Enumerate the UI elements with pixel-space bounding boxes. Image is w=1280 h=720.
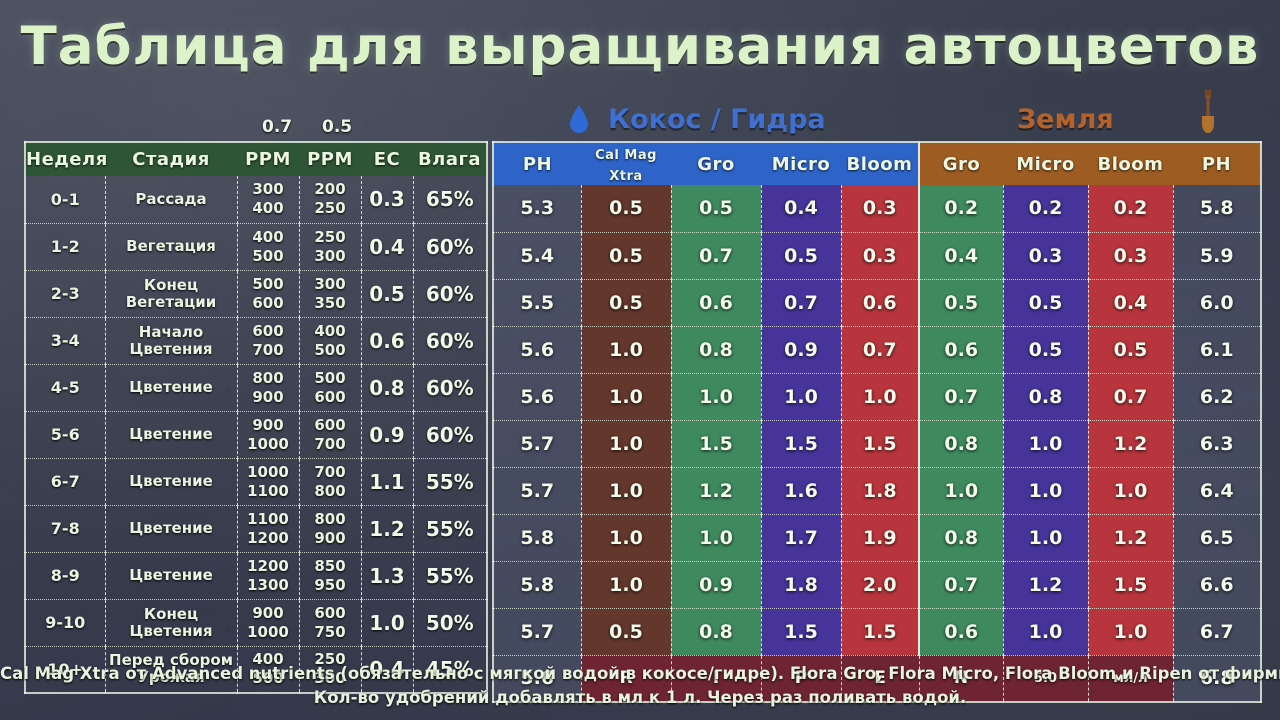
cell-ec: 1.3 (361, 552, 413, 599)
cell-week: 2-3 (25, 270, 105, 317)
cell-bloom-hydro: 1.9 (841, 514, 919, 561)
cell-gro-hydro: 0.8 (671, 326, 761, 373)
cell-ph-hydro: 5.6 (493, 326, 581, 373)
cell-ph-soil: 6.4 (1173, 467, 1261, 514)
table-row: 5.81.00.91.82.00.71.21.56.6 (493, 561, 1261, 608)
col-header-gro-soil: Gro (919, 142, 1003, 185)
table-row: 4-5Цветение8009005006000.860% (25, 364, 487, 411)
cell-stage: Конец Цветения (105, 599, 237, 646)
table-row: 0-1Рассада3004002002500.365% (25, 176, 487, 223)
cell-micro-hydro: 1.5 (761, 420, 841, 467)
cell-ppm-05: 500600 (299, 364, 361, 411)
cell-ec: 0.3 (361, 176, 413, 223)
cell-humidity: 60% (413, 411, 487, 458)
cell-ppm-05: 700800 (299, 458, 361, 505)
cell-ppm-05: 200250 (299, 176, 361, 223)
cell-ec: 0.8 (361, 364, 413, 411)
cell-gro-soil: 0.8 (919, 420, 1003, 467)
table-row: 5.61.01.01.01.00.70.80.76.2 (493, 373, 1261, 420)
cell-ph-soil: 5.9 (1173, 232, 1261, 279)
col-header-micro-hydro: Micro (761, 142, 841, 185)
col-header-ph-hydro: PH (493, 142, 581, 185)
cell-micro-soil: 0.8 (1003, 373, 1088, 420)
cell-gro-hydro: 0.9 (671, 561, 761, 608)
cell-micro-hydro: 0.4 (761, 185, 841, 232)
cell-week: 5-6 (25, 411, 105, 458)
cell-ppm-05: 300350 (299, 270, 361, 317)
cell-ppm-05: 600750 (299, 599, 361, 646)
group-title-hydro: Кокос / Гидра (608, 104, 826, 135)
table-row: 5-6Цветение90010006007000.960% (25, 411, 487, 458)
cell-bloom-soil: 0.7 (1088, 373, 1173, 420)
cell-micro-hydro: 0.9 (761, 326, 841, 373)
cell-gro-soil: 1.0 (919, 467, 1003, 514)
cell-ppm-07: 300400 (237, 176, 299, 223)
cell-ph-soil: 6.3 (1173, 420, 1261, 467)
cell-ph-hydro: 5.5 (493, 279, 581, 326)
cell-week: 6-7 (25, 458, 105, 505)
cell-gro-soil: 0.6 (919, 326, 1003, 373)
table-row: 2-3Конец Вегетации5006003003500.560% (25, 270, 487, 317)
cell-bloom-hydro: 0.3 (841, 185, 919, 232)
cell-micro-soil: 1.0 (1003, 420, 1088, 467)
table-row: 5.61.00.80.90.70.60.50.56.1 (493, 326, 1261, 373)
cell-humidity: 50% (413, 599, 487, 646)
cell-stage: Конец Вегетации (105, 270, 237, 317)
cell-micro-hydro: 0.7 (761, 279, 841, 326)
cell-bloom-hydro: 0.7 (841, 326, 919, 373)
table-row: 9-10Конец Цветения90010006007501.050% (25, 599, 487, 646)
table-row: 8-9Цветение120013008509501.355% (25, 552, 487, 599)
cell-bloom-hydro: 0.6 (841, 279, 919, 326)
cell-bloom-hydro: 0.3 (841, 232, 919, 279)
cell-gro-hydro: 1.0 (671, 373, 761, 420)
cell-gro-soil: 0.6 (919, 608, 1003, 655)
cell-humidity: 55% (413, 458, 487, 505)
cell-gro-hydro: 0.6 (671, 279, 761, 326)
cell-ppm-05: 850950 (299, 552, 361, 599)
col-header-gro-hydro: Gro (671, 142, 761, 185)
cell-ph-soil: 6.6 (1173, 561, 1261, 608)
cell-humidity: 60% (413, 270, 487, 317)
ppm-factor-05: 0.5 (322, 117, 352, 137)
table-row: 3-4Начало Цветения6007004005000.660% (25, 317, 487, 364)
cell-gro-soil: 0.7 (919, 373, 1003, 420)
calmag-line1: Cal Mag (595, 148, 657, 163)
cell-ph-hydro: 5.7 (493, 608, 581, 655)
table-row: 5.50.50.60.70.60.50.50.46.0 (493, 279, 1261, 326)
cell-humidity: 55% (413, 552, 487, 599)
cell-ppm-07: 12001300 (237, 552, 299, 599)
cell-bloom-soil: 0.4 (1088, 279, 1173, 326)
cell-ppm-07: 10001100 (237, 458, 299, 505)
col-header-bloom-soil: Bloom (1088, 142, 1173, 185)
cell-week: 0-1 (25, 176, 105, 223)
col-header-stage: Стадия (105, 142, 237, 176)
cell-bloom-hydro: 1.5 (841, 420, 919, 467)
schedule-left-table: Неделя Стадия PPM PPM EC Влага 0-1Рассад… (24, 141, 488, 694)
cell-calmag: 1.0 (581, 373, 671, 420)
cell-gro-hydro: 1.0 (671, 514, 761, 561)
cell-micro-soil: 0.5 (1003, 279, 1088, 326)
cell-week: 4-5 (25, 364, 105, 411)
cell-bloom-soil: 1.2 (1088, 420, 1173, 467)
cell-bloom-soil: 1.5 (1088, 561, 1173, 608)
table-row: 5.81.01.01.71.90.81.01.26.5 (493, 514, 1261, 561)
table-row: 5.30.50.50.40.30.20.20.25.8 (493, 185, 1261, 232)
cell-ph-hydro: 5.4 (493, 232, 581, 279)
cell-gro-soil: 0.5 (919, 279, 1003, 326)
cell-micro-soil: 0.3 (1003, 232, 1088, 279)
cell-bloom-hydro: 1.0 (841, 373, 919, 420)
right-header-row: PH Cal Mag Xtra Gro Micro Bloom Gro Micr… (493, 142, 1261, 185)
cell-week: 8-9 (25, 552, 105, 599)
cell-calmag: 0.5 (581, 232, 671, 279)
cell-stage: Цветение (105, 411, 237, 458)
cell-ec: 0.4 (361, 223, 413, 270)
footer-line-2: Кол-во удобрений добавлять в мл к 1 л. Ч… (0, 686, 1280, 710)
cell-calmag: 1.0 (581, 514, 671, 561)
cell-ec: 0.6 (361, 317, 413, 364)
footer-line-1: Cal Mag Xtra от Advanced nutrients (обяз… (0, 662, 1280, 686)
cell-calmag: 0.5 (581, 279, 671, 326)
col-header-ppm-07: PPM (237, 142, 299, 176)
cell-ph-soil: 6.7 (1173, 608, 1261, 655)
cell-micro-hydro: 1.7 (761, 514, 841, 561)
cell-calmag: 0.5 (581, 185, 671, 232)
table-row: 6-7Цветение100011007008001.155% (25, 458, 487, 505)
cell-gro-hydro: 1.2 (671, 467, 761, 514)
group-title-soil: Земля (1017, 104, 1114, 135)
cell-ph-soil: 6.1 (1173, 326, 1261, 373)
cell-calmag: 1.0 (581, 326, 671, 373)
cell-humidity: 60% (413, 223, 487, 270)
cell-gro-hydro: 0.5 (671, 185, 761, 232)
cell-calmag: 0.5 (581, 608, 671, 655)
cell-humidity: 60% (413, 317, 487, 364)
col-header-bloom-hydro: Bloom (841, 142, 919, 185)
cell-gro-hydro: 0.8 (671, 608, 761, 655)
water-drop-icon (568, 104, 590, 138)
col-header-week: Неделя (25, 142, 105, 176)
cell-ph-hydro: 5.8 (493, 514, 581, 561)
cell-week: 7-8 (25, 505, 105, 552)
cell-ppm-05: 250300 (299, 223, 361, 270)
shovel-icon (1196, 88, 1220, 140)
cell-micro-hydro: 0.5 (761, 232, 841, 279)
table-row: 7-8Цветение110012008009001.255% (25, 505, 487, 552)
cell-gro-hydro: 1.5 (671, 420, 761, 467)
cell-ph-soil: 6.0 (1173, 279, 1261, 326)
cell-ph-hydro: 5.7 (493, 467, 581, 514)
cell-ph-hydro: 5.7 (493, 420, 581, 467)
cell-ppm-05: 800900 (299, 505, 361, 552)
calmag-line2: Xtra (609, 169, 642, 184)
cell-ppm-07: 11001200 (237, 505, 299, 552)
cell-gro-soil: 0.4 (919, 232, 1003, 279)
col-header-humidity: Влага (413, 142, 487, 176)
cell-micro-soil: 1.2 (1003, 561, 1088, 608)
cell-humidity: 55% (413, 505, 487, 552)
cell-ppm-07: 9001000 (237, 411, 299, 458)
cell-stage: Цветение (105, 458, 237, 505)
table-row: 5.40.50.70.50.30.40.30.35.9 (493, 232, 1261, 279)
cell-bloom-soil: 0.2 (1088, 185, 1173, 232)
table-row: 5.71.01.21.61.81.01.01.06.4 (493, 467, 1261, 514)
cell-bloom-soil: 0.5 (1088, 326, 1173, 373)
table-row: 1-2Вегетация4005002503000.460% (25, 223, 487, 270)
cell-bloom-soil: 1.0 (1088, 608, 1173, 655)
left-header-row: Неделя Стадия PPM PPM EC Влага (25, 142, 487, 176)
cell-gro-soil: 0.8 (919, 514, 1003, 561)
footer-notes: Cal Mag Xtra от Advanced nutrients (обяз… (0, 662, 1280, 710)
col-header-ppm-05: PPM (299, 142, 361, 176)
table-row: 5.70.50.81.51.50.61.01.06.7 (493, 608, 1261, 655)
cell-micro-hydro: 1.6 (761, 467, 841, 514)
cell-micro-hydro: 1.8 (761, 561, 841, 608)
cell-ec: 1.1 (361, 458, 413, 505)
cell-bloom-hydro: 1.5 (841, 608, 919, 655)
cell-micro-soil: 1.0 (1003, 608, 1088, 655)
page-title: Таблица для выращивания автоцветов (0, 16, 1280, 77)
cell-bloom-hydro: 2.0 (841, 561, 919, 608)
cell-calmag: 1.0 (581, 561, 671, 608)
cell-bloom-soil: 1.2 (1088, 514, 1173, 561)
cell-ppm-05: 600700 (299, 411, 361, 458)
cell-ph-soil: 6.5 (1173, 514, 1261, 561)
cell-ppm-07: 9001000 (237, 599, 299, 646)
cell-ph-hydro: 5.6 (493, 373, 581, 420)
cell-bloom-hydro: 1.8 (841, 467, 919, 514)
cell-stage: Цветение (105, 505, 237, 552)
cell-ec: 1.0 (361, 599, 413, 646)
cell-ppm-07: 400500 (237, 223, 299, 270)
cell-gro-soil: 0.7 (919, 561, 1003, 608)
table-row: 5.71.01.51.51.50.81.01.26.3 (493, 420, 1261, 467)
cell-stage: Цветение (105, 552, 237, 599)
cell-ph-hydro: 5.8 (493, 561, 581, 608)
cell-ec: 1.2 (361, 505, 413, 552)
cell-calmag: 1.0 (581, 420, 671, 467)
col-header-calmag-xtra: Cal Mag Xtra (581, 142, 671, 185)
cell-micro-soil: 1.0 (1003, 514, 1088, 561)
cell-ppm-07: 800900 (237, 364, 299, 411)
cell-ppm-05: 400500 (299, 317, 361, 364)
cell-bloom-soil: 1.0 (1088, 467, 1173, 514)
cell-micro-soil: 1.0 (1003, 467, 1088, 514)
col-header-ph-soil: PH (1173, 142, 1261, 185)
cell-micro-soil: 0.5 (1003, 326, 1088, 373)
cell-stage: Начало Цветения (105, 317, 237, 364)
cell-ppm-07: 600700 (237, 317, 299, 364)
cell-week: 9-10 (25, 599, 105, 646)
cell-micro-hydro: 1.5 (761, 608, 841, 655)
cell-ec: 0.9 (361, 411, 413, 458)
cell-gro-soil: 0.2 (919, 185, 1003, 232)
cell-calmag: 1.0 (581, 467, 671, 514)
cell-humidity: 60% (413, 364, 487, 411)
cell-micro-soil: 0.2 (1003, 185, 1088, 232)
cell-ph-soil: 5.8 (1173, 185, 1261, 232)
col-header-ec: EC (361, 142, 413, 176)
cell-ph-hydro: 5.3 (493, 185, 581, 232)
schedule-right-table: PH Cal Mag Xtra Gro Micro Bloom Gro Micr… (492, 141, 1262, 703)
cell-stage: Вегетация (105, 223, 237, 270)
col-header-micro-soil: Micro (1003, 142, 1088, 185)
ppm-factor-07: 0.7 (262, 117, 292, 137)
cell-stage: Рассада (105, 176, 237, 223)
cell-ec: 0.5 (361, 270, 413, 317)
cell-week: 3-4 (25, 317, 105, 364)
cell-bloom-soil: 0.3 (1088, 232, 1173, 279)
cell-gro-hydro: 0.7 (671, 232, 761, 279)
cell-humidity: 65% (413, 176, 487, 223)
cell-stage: Цветение (105, 364, 237, 411)
cell-micro-hydro: 1.0 (761, 373, 841, 420)
cell-ppm-07: 500600 (237, 270, 299, 317)
cell-week: 1-2 (25, 223, 105, 270)
cell-ph-soil: 6.2 (1173, 373, 1261, 420)
